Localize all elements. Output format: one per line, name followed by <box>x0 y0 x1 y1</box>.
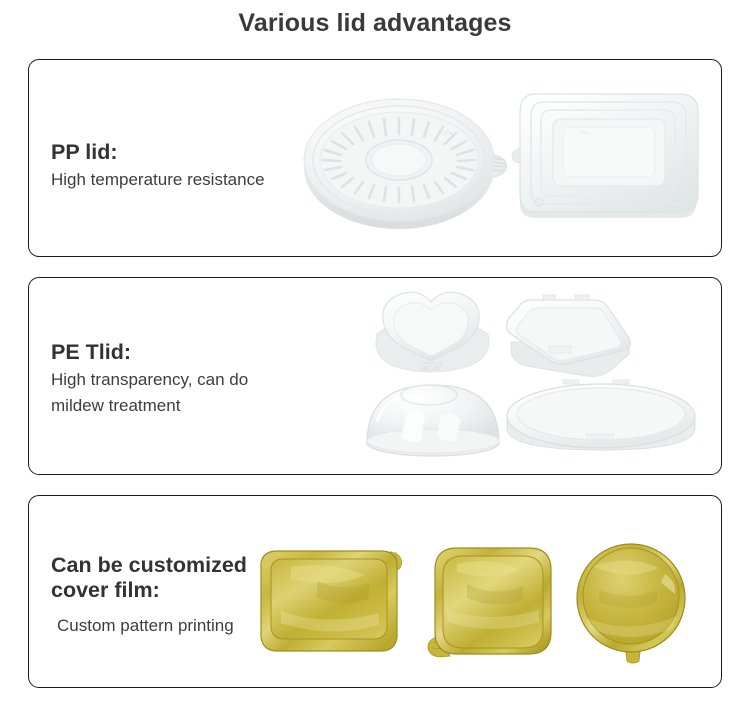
pp-lid-description: High temperature resistance <box>51 167 265 193</box>
panel-pp-lid: PP lid: High temperature resistance <box>28 59 722 257</box>
round-pp-lid-image <box>301 82 511 237</box>
gold-square-foil-lid-image <box>427 540 567 665</box>
pe-lid-text-block: PE Tlid: High transparency, can do milde… <box>51 340 248 419</box>
panel-cover-film: Can be customized cover film: Custom pat… <box>28 495 722 688</box>
square-pe-lid-image <box>497 290 647 382</box>
gold-rectangular-foil-lid-image <box>257 541 422 661</box>
cover-film-heading: Can be customized cover film: <box>51 553 247 603</box>
cover-film-text-block: Can be customized cover film: Custom pat… <box>51 553 247 639</box>
rectangular-pp-lid-image <box>506 76 721 236</box>
pe-lid-description: High transparency, can do mildew treatme… <box>51 367 248 419</box>
pp-lid-text-block: PP lid: High temperature resistance <box>51 140 265 193</box>
heart-pe-lid-image <box>359 288 509 383</box>
oval-flat-pe-lid-image <box>501 378 706 458</box>
gold-round-foil-lid-image <box>569 540 704 665</box>
panel-pe-lid: PE Tlid: High transparency, can do milde… <box>28 277 722 475</box>
cover-film-description: Custom pattern printing <box>51 613 247 639</box>
dome-pe-lid-image <box>359 373 514 463</box>
pe-lid-heading: PE Tlid: <box>51 340 248 365</box>
pp-lid-heading: PP lid: <box>51 140 265 165</box>
page-title: Various lid advantages <box>0 9 750 38</box>
